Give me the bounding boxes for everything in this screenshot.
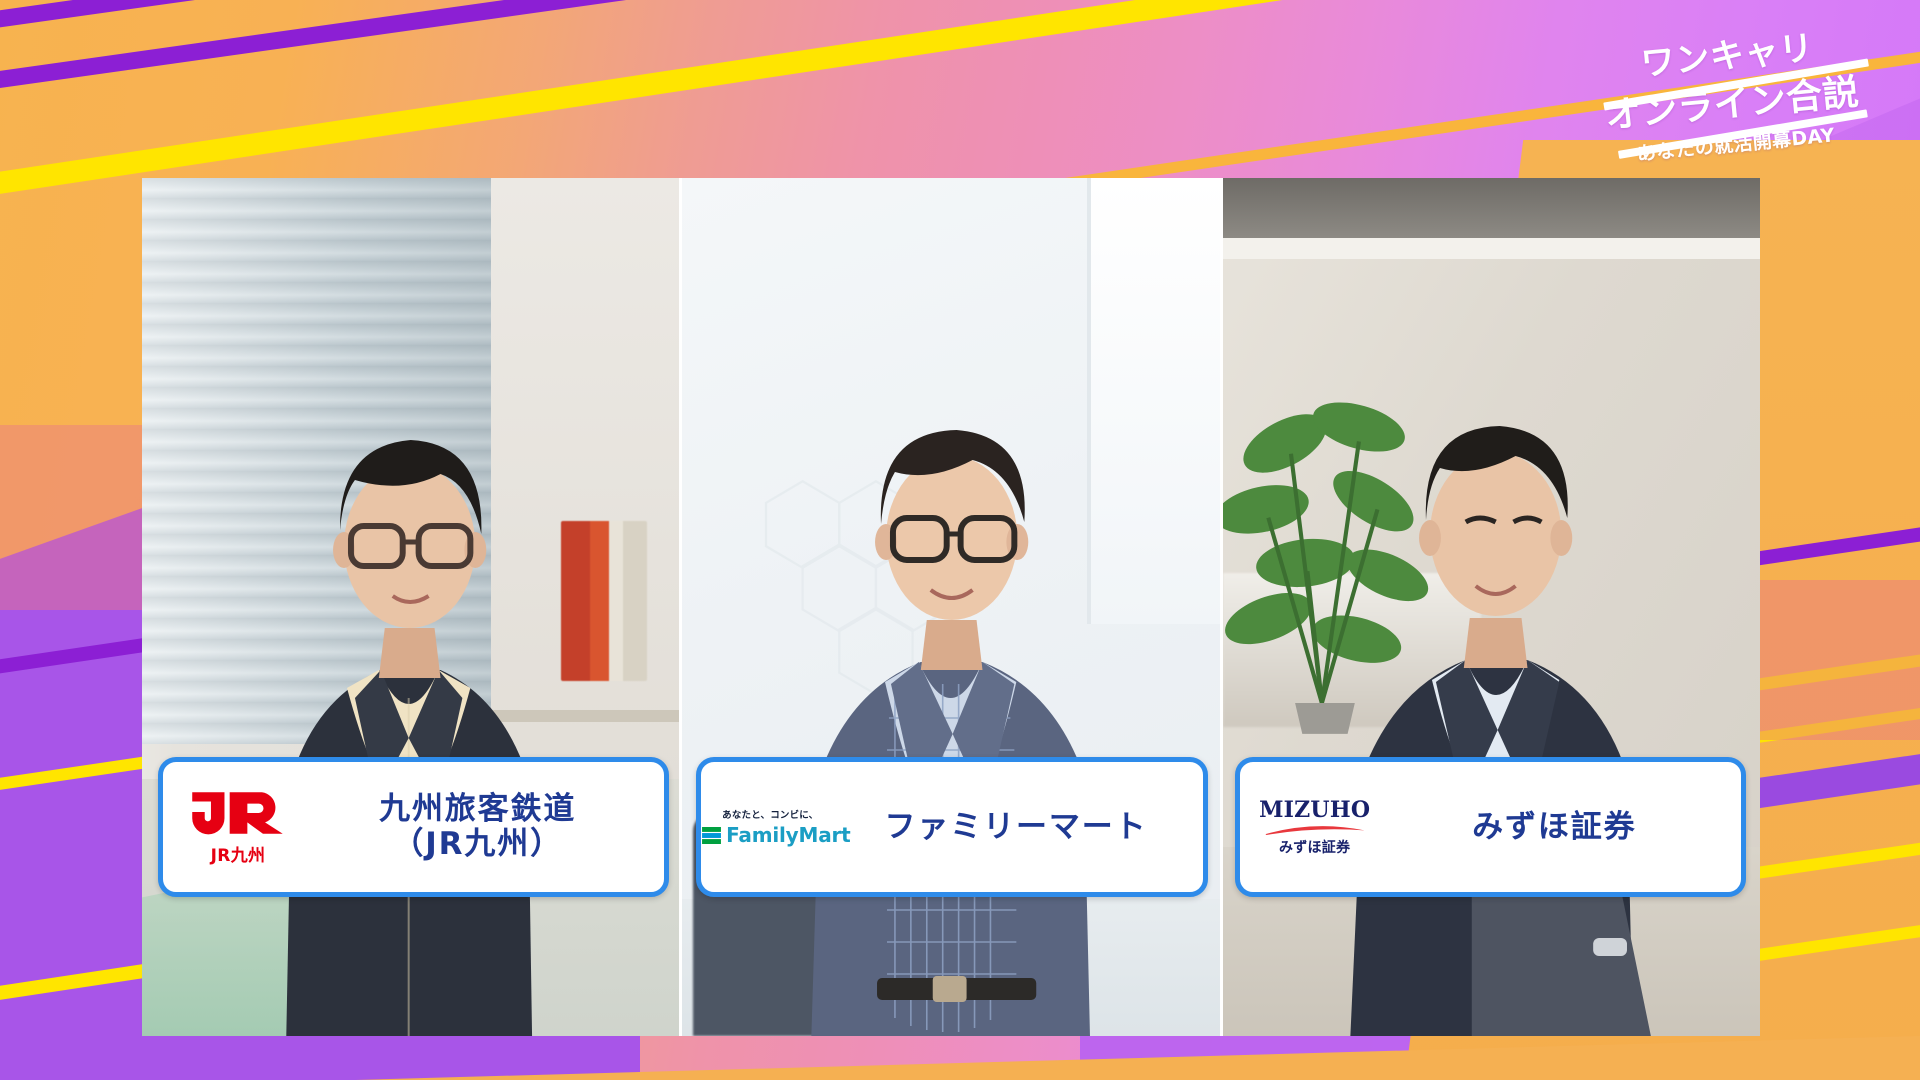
familymart-tagline: あなたと、コンビに、 [722, 807, 850, 821]
canvas: JR九州 九州旅客鉄道 （JR九州） あなたと、コンビに、 [0, 0, 1920, 1080]
company-name-1: 九州旅客鉄道 （JR九州） [313, 792, 664, 861]
familymart-logo-icon: あなたと、コンビに、 FamilyMart [702, 807, 850, 847]
logo-slot-1: JR九州 [163, 788, 313, 866]
video-grid [142, 178, 1760, 1036]
jr-logo-subtext: JR九州 [186, 841, 290, 866]
pane3-person-speaker-3 [1223, 178, 1760, 1036]
company-name-cards: JR九州 九州旅客鉄道 （JR九州） あなたと、コンビに、 [158, 757, 1746, 897]
event-logo: ワンキャリ オンライン合説 あなたの就活開幕DAY [1575, 14, 1888, 192]
company-name-2-line1: ファミリーマート [885, 809, 1148, 845]
jr-kyushu-logo-icon [186, 788, 290, 838]
company-name-3-line1: みずほ証券 [1472, 809, 1636, 845]
company-name-3: みずほ証券 [1390, 810, 1741, 845]
company-name-1-line1: 九州旅客鉄道 [379, 791, 576, 827]
company-name-1-line2: （JR九州） [313, 827, 642, 862]
mizuho-swoosh-icon [1261, 824, 1369, 835]
pane2-person-speaker-2 [682, 178, 1219, 1036]
video-pane-3[interactable] [1220, 178, 1760, 1036]
company-card-jr-kyushu[interactable]: JR九州 九州旅客鉄道 （JR九州） [158, 757, 669, 897]
mizuho-logo-icon: MIZUHO みずほ証券 [1259, 797, 1370, 857]
familymart-bars-icon [702, 827, 721, 844]
mizuho-logo-subtext: みずほ証券 [1259, 837, 1370, 857]
company-name-2: ファミリーマート [851, 810, 1202, 845]
company-card-familymart[interactable]: あなたと、コンビに、 FamilyMart ファミリーマート [696, 757, 1207, 897]
pane1-person-speaker-1 [142, 178, 679, 1036]
mizuho-wordmark: MIZUHO [1259, 797, 1370, 823]
logo-slot-2: あなたと、コンビに、 FamilyMart [701, 807, 851, 847]
familymart-wordmark: FamilyMart [726, 823, 850, 847]
video-pane-2[interactable] [679, 178, 1219, 1036]
company-card-mizuho[interactable]: MIZUHO みずほ証券 みずほ証券 [1235, 757, 1746, 897]
logo-slot-3: MIZUHO みずほ証券 [1240, 797, 1390, 857]
video-pane-1[interactable] [142, 178, 679, 1036]
